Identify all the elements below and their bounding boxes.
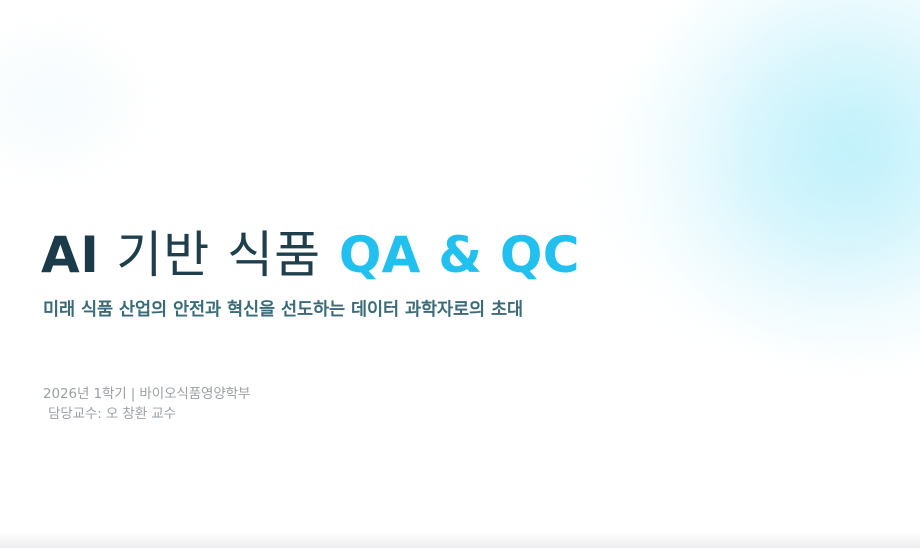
slide-title: AI 기반 식품 QA & QC	[41, 224, 741, 286]
title-segment-qa-qc: QA & QC	[321, 226, 580, 284]
title-segment-ai: AI	[41, 226, 99, 284]
title-slide: AI 기반 식품 QA & QC 미래 식품 산업의 안전과 혁신을 선도하는 …	[0, 0, 920, 548]
meta-semester-department: 2026년 1학기 | 바이오식품영양학부	[43, 384, 741, 404]
slide-subtitle: 미래 식품 산업의 안전과 혁신을 선도하는 데이터 과학자로의 초대	[43, 298, 741, 322]
slide-meta-block: 2026년 1학기 | 바이오식품영양학부 담당교수: 오 창환 교수	[43, 384, 741, 424]
background-glow-left	[0, 30, 140, 170]
slide-content: AI 기반 식품 QA & QC 미래 식품 산업의 안전과 혁신을 선도하는 …	[41, 224, 741, 424]
meta-instructor: 담당교수: 오 창환 교수	[43, 404, 741, 424]
title-segment-korean: 기반 식품	[99, 226, 321, 284]
bottom-band	[0, 532, 920, 548]
